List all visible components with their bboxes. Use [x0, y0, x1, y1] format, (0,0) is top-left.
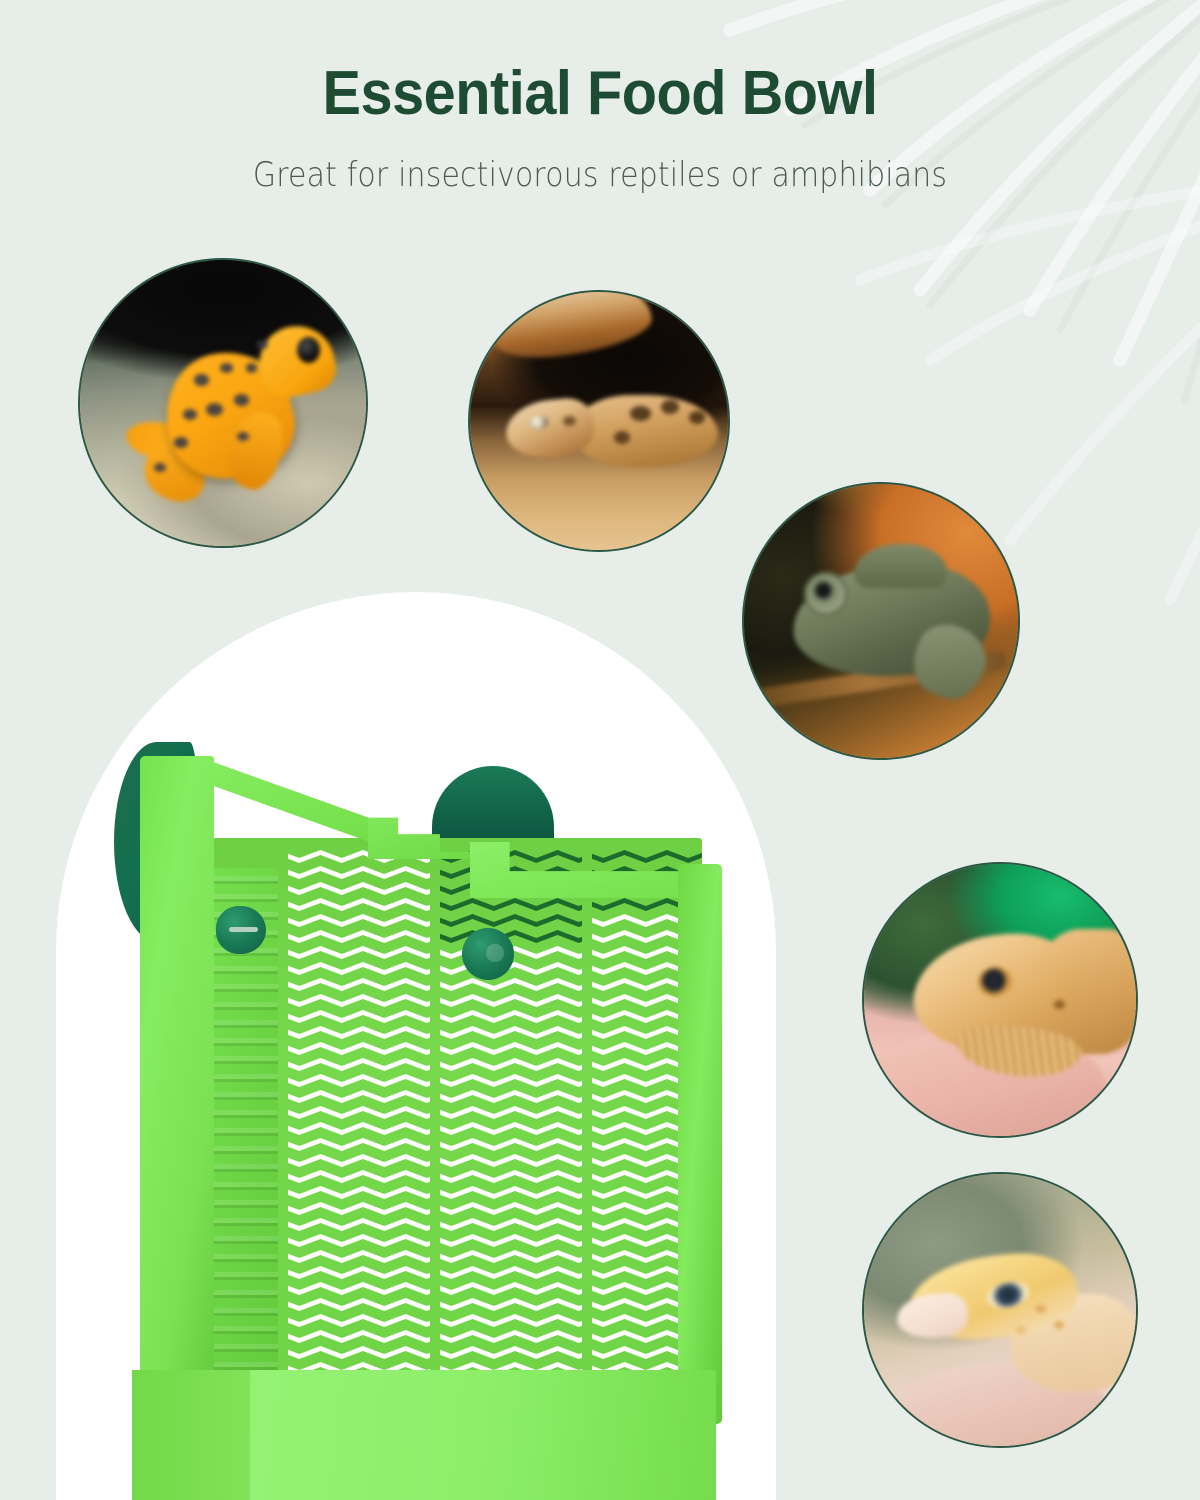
photo-albino-leopard-gecko [862, 1172, 1138, 1448]
suction-knob-left-icon [216, 906, 266, 954]
page-title: Essential Food Bowl [42, 0, 1158, 129]
product-reptile-feeding-ledge [110, 738, 730, 1468]
chevron-panel-2 [440, 850, 582, 1398]
right-side-wall [678, 864, 722, 1424]
top-ledge-left [202, 758, 392, 850]
suction-knob-center-icon [462, 928, 514, 980]
mounting-back-plate [140, 756, 214, 1416]
photo-bearded-dragon-on-hand [862, 862, 1138, 1138]
header: Essential Food Bowl Great for insectivor… [0, 0, 1200, 195]
page-subtitle: Great for insectivorous reptiles or amph… [72, 129, 1128, 195]
chevron-panel-1 [288, 850, 430, 1398]
suction-cup-center-icon [432, 766, 554, 844]
food-tray-front-shade [132, 1370, 250, 1500]
photo-chameleon-on-branch [742, 482, 1020, 760]
photo-poison-dart-frog [78, 258, 368, 548]
photo-leopard-gecko-on-sand [468, 290, 730, 552]
product-infographic-page: Essential Food Bowl Great for insectivor… [0, 0, 1200, 1500]
